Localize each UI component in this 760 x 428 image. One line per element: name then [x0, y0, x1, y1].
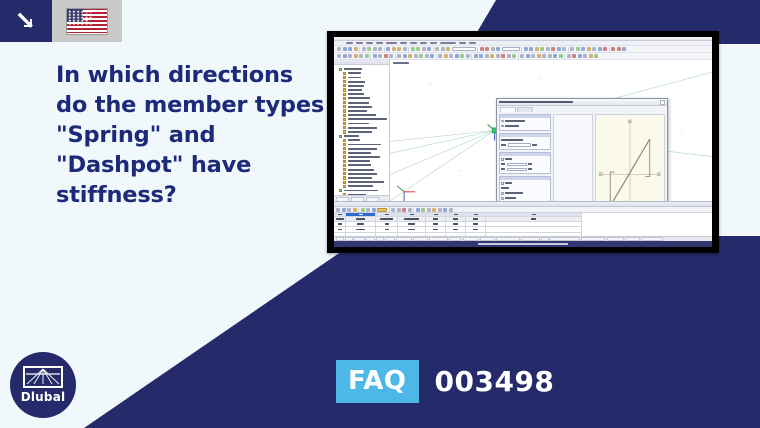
cell-text: [473, 229, 477, 231]
navigator-item-label: [348, 127, 377, 129]
option-label: [505, 125, 519, 127]
navigator-item-label: [348, 173, 377, 175]
project-navigator[interactable]: [334, 60, 390, 201]
navigator-item-label: [348, 148, 377, 150]
axial-stiffness-input[interactable]: [508, 143, 531, 146]
navigator-item-label: [344, 135, 360, 137]
radio-icon[interactable]: [501, 192, 504, 195]
slippage-minus-input[interactable]: [507, 163, 527, 166]
cell-text: [408, 223, 416, 225]
option-label: [505, 120, 525, 122]
cell-text: [453, 218, 457, 220]
radio-icon[interactable]: [501, 125, 504, 128]
folder-icon: [343, 181, 346, 184]
dlubal-truss-logo-icon: [23, 366, 63, 388]
checkbox-icon[interactable]: [501, 158, 504, 161]
navigator-item-label: [348, 177, 372, 179]
navigator-item-label: [348, 110, 367, 112]
radio-diagram[interactable]: [501, 124, 549, 128]
menu-item[interactable]: [400, 42, 407, 44]
navigator-item-label: [348, 114, 376, 116]
unit-label: [528, 163, 532, 165]
folder-icon: [343, 84, 346, 87]
cell-text: [453, 223, 457, 225]
option-label: [505, 192, 523, 194]
folder-icon: [343, 105, 346, 108]
folder-icon: [343, 155, 346, 158]
folder-icon: [343, 80, 346, 83]
close-icon[interactable]: [660, 100, 665, 105]
folder-icon: [343, 130, 346, 133]
members-table-panel[interactable]: [334, 201, 712, 247]
navigator-item-label: [348, 181, 385, 183]
cell-text: [433, 229, 437, 231]
tab-self-weight[interactable]: [517, 107, 533, 112]
navigator-item-label: [344, 68, 363, 70]
navigator-item-label: [348, 72, 362, 74]
cell-text: [410, 214, 414, 216]
cell-text: [338, 214, 342, 216]
unit-label: [532, 144, 537, 146]
menu-item[interactable]: [440, 42, 456, 44]
model-viewport[interactable]: [390, 60, 712, 201]
folder-icon: [343, 147, 346, 150]
navigator-item-label: [348, 131, 372, 133]
navigator-item-label: [348, 93, 365, 95]
folder-icon: [343, 93, 346, 96]
app-body: [334, 60, 712, 201]
folder-icon: [343, 172, 346, 175]
field-label: [501, 144, 506, 146]
navigator-item-label: [348, 160, 370, 162]
folder-icon: [343, 126, 346, 129]
app-toolbar-row-1[interactable]: [334, 46, 712, 53]
option-label: [505, 158, 512, 160]
cell-text: [532, 214, 536, 216]
field-label: [501, 139, 523, 141]
members-table-grid[interactable]: [334, 213, 712, 238]
navigator-item-label: [348, 169, 374, 171]
spring-work-diagram: [595, 114, 665, 201]
dialog-title-text: [499, 101, 573, 103]
cell-text: [454, 214, 458, 216]
radio-parameters[interactable]: [501, 119, 549, 123]
faq-row: FAQ 003498: [336, 360, 554, 403]
us-flag-icon: ★★★★★★ ★★★★★ ★★★★★★ ★★★★★ ★★★★★★: [66, 8, 108, 35]
cell-text: [357, 223, 364, 225]
field-label: [501, 163, 505, 165]
option-label: [505, 197, 516, 199]
cell-text: [453, 229, 457, 231]
menu-item[interactable]: [376, 42, 383, 44]
edit-member-parameters-dialog[interactable]: [496, 98, 668, 201]
slippage-plus-input[interactable]: [507, 168, 527, 171]
folder-icon: [343, 101, 346, 104]
cell-text: [531, 218, 537, 220]
menu-item[interactable]: [346, 42, 353, 44]
group-heading: [500, 115, 550, 118]
app-toolbar-row-2[interactable]: [334, 53, 712, 60]
menu-item[interactable]: [459, 42, 466, 44]
menu-item[interactable]: [430, 42, 437, 44]
folder-icon: [343, 97, 346, 100]
cell-text: [356, 229, 365, 231]
faq-tag: FAQ: [336, 360, 419, 403]
dialog-titlebar[interactable]: [497, 99, 667, 106]
faq-number: 003498: [435, 365, 555, 398]
group-spring-constant: [499, 133, 551, 150]
folder-icon: [343, 88, 346, 91]
navigator-item-label: [348, 81, 366, 83]
folder-icon: [343, 151, 346, 154]
language-flag-button[interactable]: ★★★★★★ ★★★★★ ★★★★★★ ★★★★★ ★★★★★★: [52, 0, 122, 42]
navigator-item-label: [348, 152, 371, 154]
slippage-minus-row[interactable]: [501, 162, 549, 166]
badge-row: ★★★★★★ ★★★★★ ★★★★★★ ★★★★★ ★★★★★★: [0, 0, 122, 42]
menu-item[interactable]: [410, 42, 417, 44]
cell-text: [385, 229, 389, 231]
navigator-item-label: [348, 139, 361, 141]
group-heading: [500, 177, 550, 180]
rfem-application-window: [334, 37, 712, 247]
navigator-item-label: [348, 85, 365, 87]
folder-icon: [343, 160, 346, 163]
navigator-item-label: [348, 156, 381, 158]
navigator-tab-display[interactable]: [351, 197, 364, 201]
folder-icon: [339, 135, 342, 138]
brand-name: Dlubal: [21, 390, 66, 404]
field-label: [501, 187, 509, 189]
cell-text: [356, 218, 365, 220]
slide-canvas: ★★★★★★ ★★★★★ ★★★★★★ ★★★★★ ★★★★★★ In whic…: [0, 0, 760, 428]
radio-icon[interactable]: [501, 197, 504, 200]
menu-item[interactable]: [469, 42, 476, 44]
cell-text: [385, 214, 389, 216]
menu-item[interactable]: [386, 42, 397, 44]
folder-icon: [343, 76, 346, 79]
cell-text: [433, 223, 437, 225]
dialog-tabs[interactable]: [497, 106, 667, 112]
folder-icon: [343, 139, 346, 142]
limits-use-checkbox-row[interactable]: [501, 181, 549, 185]
slippage-use-checkbox-row[interactable]: [501, 157, 549, 161]
navigator-tree[interactable]: [334, 65, 389, 195]
group-heading: [500, 134, 550, 137]
screenshot-frame: [327, 31, 719, 253]
folder-icon: [339, 68, 342, 71]
cell-text: [474, 214, 478, 216]
group-limits: [499, 176, 551, 201]
status-bar-text: [478, 243, 568, 245]
navigator-item-label: [348, 97, 370, 99]
checkbox-icon[interactable]: [501, 182, 504, 185]
folder-icon: [343, 176, 346, 179]
radio-icon[interactable]: [501, 120, 504, 123]
dialog-left-column: [499, 114, 551, 201]
dialog-content: [499, 114, 665, 201]
arrow-down-right-icon: [15, 10, 37, 32]
radio-force[interactable]: [501, 196, 549, 200]
folder-icon: [339, 189, 342, 192]
cell-text: [473, 218, 477, 220]
menu-item[interactable]: [366, 42, 373, 44]
navigator-item-label: [348, 77, 362, 79]
slippage-plus-row[interactable]: [501, 167, 549, 171]
cell-text: [404, 218, 418, 220]
navigator-item-label: [348, 144, 382, 146]
cell-text: [434, 214, 438, 216]
option-label: [505, 182, 512, 184]
folder-icon: [343, 114, 346, 117]
navigator-tab-data[interactable]: [336, 197, 349, 201]
navigator-item-label: [348, 89, 363, 91]
navigator-item-label: [348, 106, 372, 108]
navigator-tab-views[interactable]: [366, 197, 379, 201]
axial-stiffness-label-row: [501, 138, 549, 142]
tab-general[interactable]: [500, 107, 516, 112]
navigator-item-label: [348, 164, 371, 166]
cell-text: [336, 218, 344, 220]
menu-item[interactable]: [356, 42, 363, 44]
folder-icon: [343, 72, 346, 75]
cell-text: [338, 223, 342, 225]
cell-text: [433, 218, 437, 220]
navigator-item-label: [348, 185, 373, 187]
cell-text: [473, 223, 477, 225]
dialog-preview-panel: [553, 114, 593, 201]
status-bar: [334, 241, 712, 247]
folder-icon: [343, 143, 346, 146]
dlubal-logo[interactable]: Dlubal: [10, 352, 76, 418]
group-definition-type: [499, 114, 551, 131]
group-slippage: [499, 152, 551, 174]
folder-icon: [343, 164, 346, 167]
folder-icon: [343, 109, 346, 112]
cell-text: [359, 214, 363, 216]
cell-text: [338, 229, 342, 231]
folder-icon: [343, 185, 346, 188]
flag-stars: ★★★★★★ ★★★★★ ★★★★★★ ★★★★★ ★★★★★★: [68, 10, 107, 34]
radio-deformation[interactable]: [501, 191, 549, 195]
limits-type-label-row: [501, 186, 549, 190]
navigator-item-label: [348, 118, 387, 120]
navigator-item-label: [344, 190, 379, 192]
folder-icon: [343, 118, 346, 121]
cell-text: [408, 229, 416, 231]
download-arrow-button[interactable]: [0, 0, 52, 42]
folder-icon: [343, 122, 346, 125]
navigator-item-label: [348, 102, 369, 104]
field-label: [501, 168, 505, 170]
menu-item[interactable]: [420, 42, 427, 44]
page-title: In which directions do the member types …: [56, 60, 346, 210]
cell-text: [385, 223, 389, 225]
cell-text: [380, 218, 394, 220]
axial-stiffness-field-row[interactable]: [501, 143, 549, 147]
unit-label: [528, 168, 532, 170]
group-heading: [500, 153, 550, 156]
navigator-item-label: [348, 123, 369, 125]
folder-icon: [343, 168, 346, 171]
